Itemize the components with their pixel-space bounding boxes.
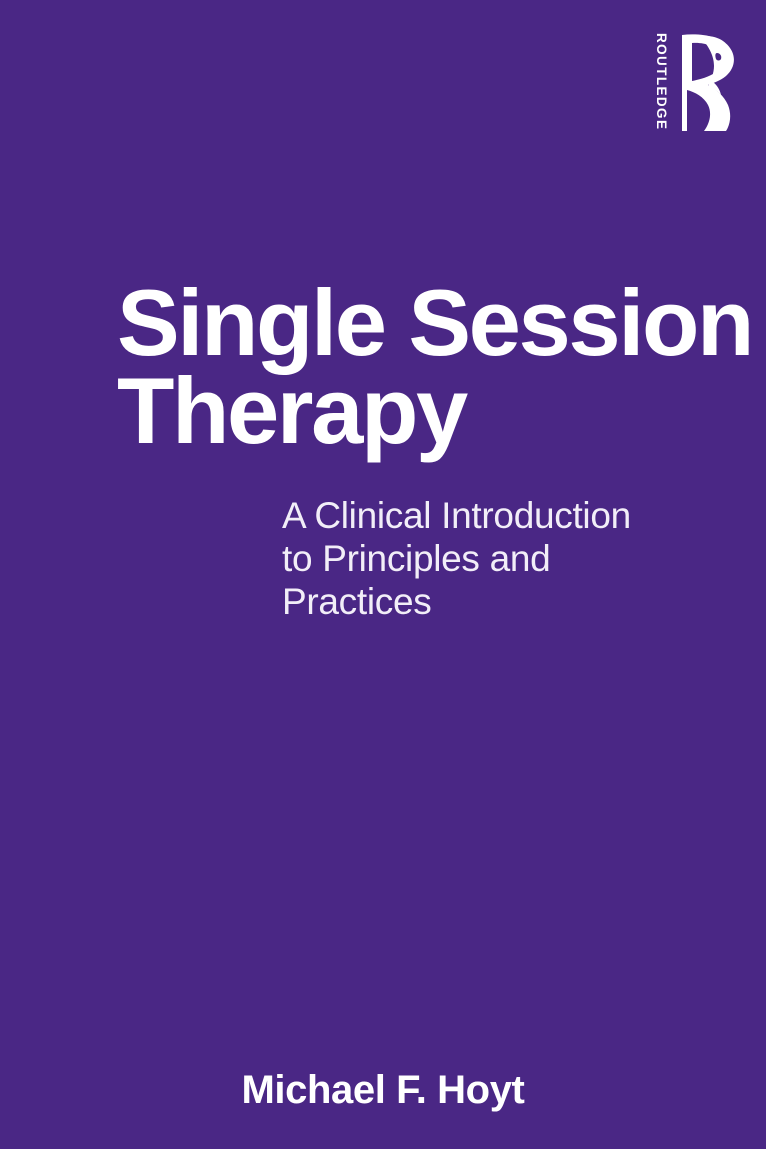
- subtitle-line-3: Practices: [282, 580, 712, 623]
- subtitle-line-1: A Clinical Introduction: [282, 494, 712, 537]
- routledge-r-face-icon: [670, 33, 740, 133]
- title-line-1: Single Session: [117, 279, 717, 367]
- author-name: Michael F. Hoyt: [0, 1068, 766, 1112]
- routledge-logo: ROUTLEDGE: [648, 33, 740, 133]
- book-subtitle: A Clinical Introduction to Principles an…: [282, 494, 712, 623]
- title-line-2: Therapy: [117, 367, 717, 455]
- subtitle-line-2: to Principles and: [282, 537, 712, 580]
- book-title: Single Session Therapy: [117, 279, 717, 455]
- book-cover: ROUTLEDGE Single Session Therapy A Clini…: [0, 0, 766, 1149]
